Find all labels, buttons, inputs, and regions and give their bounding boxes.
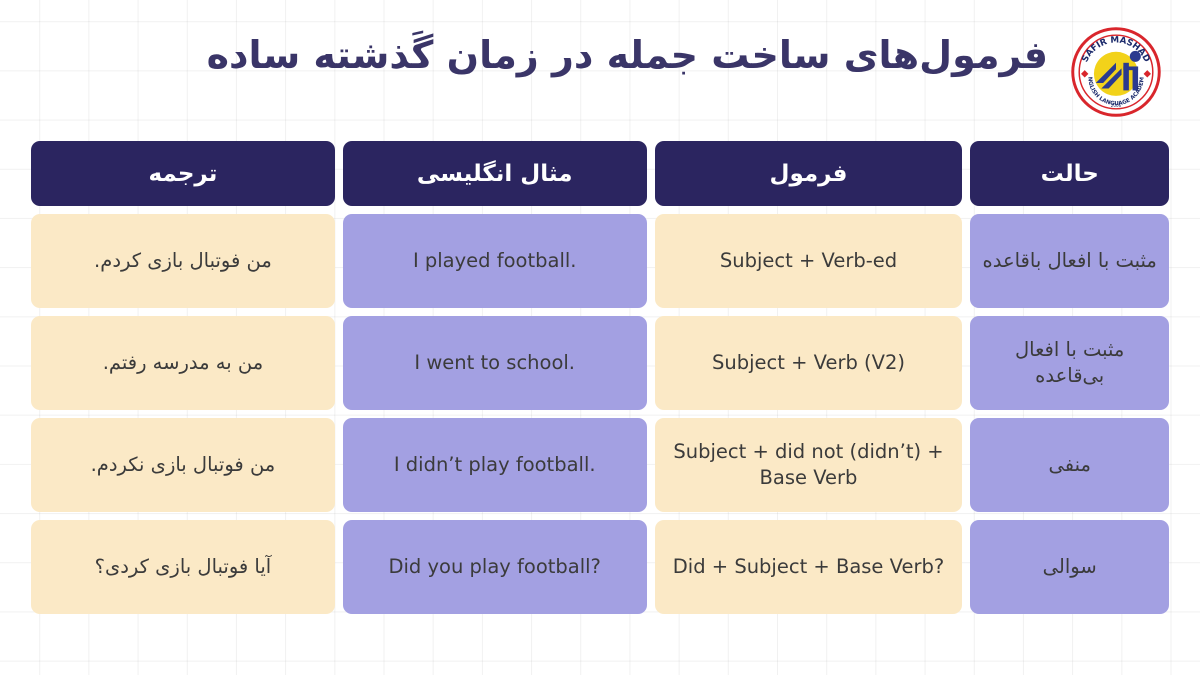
cell-translation: من فوتبال بازی نکردم. <box>31 418 335 512</box>
column-header-example-en: مثال انگلیسی <box>343 141 647 206</box>
table-row: سوالی Did + Subject + Base Verb? Did you… <box>31 520 1169 614</box>
cell-example-en: Did you play football? <box>343 520 647 614</box>
cell-example-en: I played football. <box>343 214 647 308</box>
cell-translation: آیا فوتبال بازی کردی؟ <box>31 520 335 614</box>
page-header: فرمول‌های ساخت جمله در زمان گَذشته ساده … <box>0 0 1200 132</box>
cell-state: مثبت با افعال باقاعده <box>970 214 1169 308</box>
column-header-formula: فرمول <box>655 141 963 206</box>
logo-year: 2006 <box>1111 103 1122 108</box>
cell-state: مثبت با افعال بی‌قاعده <box>970 316 1169 410</box>
cell-formula: Did + Subject + Base Verb? <box>655 520 963 614</box>
cell-translation: من فوتبال بازی کردم. <box>31 214 335 308</box>
column-header-translation: ترجمه <box>31 141 335 206</box>
cell-translation: من به مدرسه رفتم. <box>31 316 335 410</box>
page-title: فرمول‌های ساخت جمله در زمان گَذشته ساده <box>88 32 1048 80</box>
page-root: فرمول‌های ساخت جمله در زمان گَذشته ساده … <box>0 0 1200 675</box>
table-row: منفی Subject + did not (didn’t) + Base V… <box>31 418 1169 512</box>
cell-state: سوالی <box>970 520 1169 614</box>
table-row: مثبت با افعال باقاعده Subject + Verb-ed … <box>31 214 1169 308</box>
table-header-row: حالت فرمول مثال انگلیسی ترجمه <box>31 141 1169 206</box>
table-row: مثبت با افعال بی‌قاعده Subject + Verb (V… <box>31 316 1169 410</box>
grammar-table: حالت فرمول مثال انگلیسی ترجمه مثبت با اف… <box>31 141 1169 622</box>
cell-example-en: I didn’t play football. <box>343 418 647 512</box>
cell-formula: Subject + Verb-ed <box>655 214 963 308</box>
column-header-state: حالت <box>970 141 1169 206</box>
cell-example-en: I went to school. <box>343 316 647 410</box>
logo-svg: SAFIR MASHAD ENGLISH LANGUAGE ACADEMY 20… <box>1070 26 1162 118</box>
cell-formula: Subject + did not (didn’t) + Base Verb <box>655 418 963 512</box>
cell-formula: Subject + Verb (V2) <box>655 316 963 410</box>
safir-mashad-logo: SAFIR MASHAD ENGLISH LANGUAGE ACADEMY 20… <box>1070 26 1162 118</box>
cell-state: منفی <box>970 418 1169 512</box>
